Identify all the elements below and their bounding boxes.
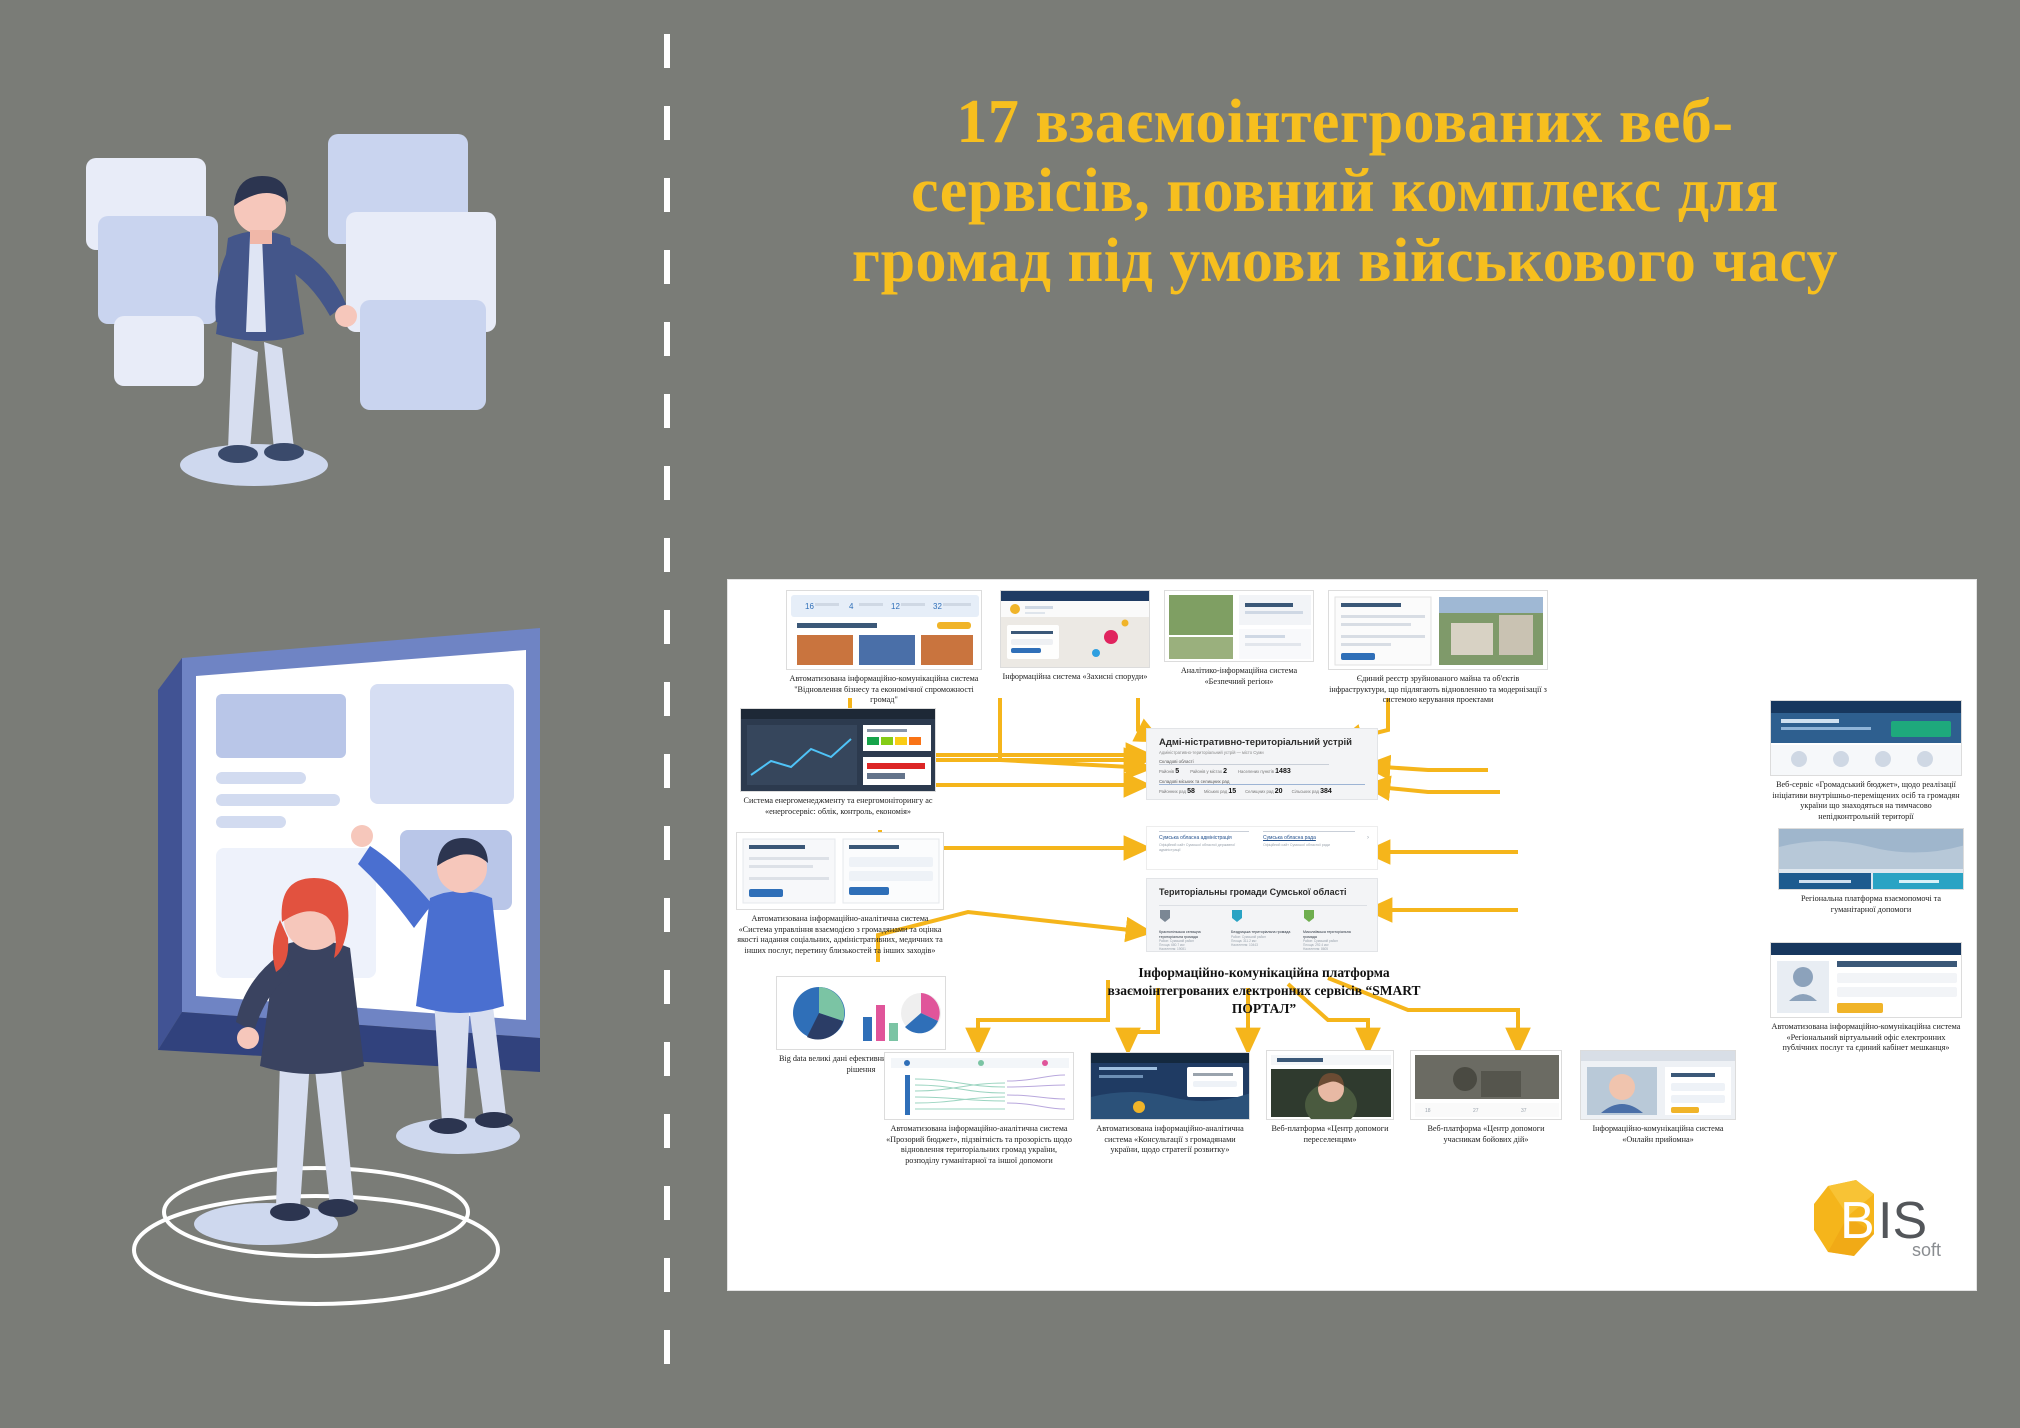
caption-citizen-interaction: Автоматизована інформаційно-аналітична с… xyxy=(736,914,944,956)
illustration-team-at-screen xyxy=(70,620,630,1320)
field-rayon-councils: Районних рад 58 xyxy=(1159,788,1195,795)
illustration-person-with-panels xyxy=(78,120,598,550)
chevron-right-icon[interactable]: › xyxy=(1367,835,1369,841)
center-hub-label: Інформаційно-комунікаційна платформа вза… xyxy=(1096,964,1432,1019)
dashed-divider xyxy=(664,34,670,1394)
svg-text:18: 18 xyxy=(1425,1108,1431,1114)
caption-transparent-budget: Автоматизована інформаційно-аналітична с… xyxy=(884,1124,1074,1166)
coat-of-arms-icon xyxy=(1231,909,1243,923)
thumbnail-public-budget xyxy=(1770,700,1962,776)
node-humanitarian-platform[interactable]: Регіональна платформа взаємопомочі та гу… xyxy=(1778,828,1964,915)
field-village-councils: Сільських рад 384 xyxy=(1292,788,1332,795)
community-card[interactable]: Краснопільська селищна територіальна гро… xyxy=(1159,909,1221,951)
communities-rule xyxy=(1159,905,1367,906)
community-card[interactable]: Миколаївська територіальна громада Район… xyxy=(1303,909,1365,951)
node-public-budget[interactable]: Веб-сервіс «Громадський бюджет», щодо ре… xyxy=(1770,700,1962,822)
caption-citizen-consultations: Автоматизована інформаційно-аналітична с… xyxy=(1090,1124,1250,1156)
thumbnail-destroyed-registry xyxy=(1328,590,1548,670)
node-veterans-help-center[interactable]: 182737 Веб-платформа «Центр допомоги уча… xyxy=(1410,1050,1562,1145)
authority-title-oda: Сумська обласна адміністрація xyxy=(1159,835,1249,841)
thumbnail-citizen-interaction xyxy=(736,832,944,910)
thumbnail-veterans-help-center: 182737 xyxy=(1410,1050,1562,1120)
node-virtual-office[interactable]: Автоматизована інформаційно-комунікаційн… xyxy=(1770,942,1962,1054)
thumbnail-citizen-consultations xyxy=(1090,1052,1250,1120)
caption-safe-region: Аналітико-інформаційна система «Безпечни… xyxy=(1164,666,1314,687)
community-card[interactable]: Бездрицька територіальна громада Район: … xyxy=(1231,909,1293,951)
node-destroyed-registry[interactable]: Єдиний реєстр зруйнованого майна та об'є… xyxy=(1328,590,1548,706)
caption-virtual-office: Автоматизована інформаційно-комунікаційн… xyxy=(1770,1022,1962,1054)
caption-public-budget: Веб-сервіс «Громадський бюджет», щодо ре… xyxy=(1770,780,1962,822)
communities-box-title: Територіальны громади Сумської області xyxy=(1159,887,1347,897)
field-city-districts: Районів у містах 2 xyxy=(1190,768,1227,775)
field-settlements: Населених пунктів 1483 xyxy=(1238,768,1291,775)
authority-title-rada: Сумська обласна рада xyxy=(1263,835,1355,841)
registry-group2-fields: Районних рад 58 Міських рад 15 Селищних … xyxy=(1159,788,1332,795)
caption-shelters: Інформаційна система «Захисні споруди» xyxy=(1000,672,1150,683)
svg-text:12: 12 xyxy=(891,602,900,611)
coat-of-arms-icon xyxy=(1159,909,1171,923)
thumbnail-transparent-budget xyxy=(884,1052,1074,1120)
authority-box[interactable]: Сумська обласна адміністрація Офіційний … xyxy=(1146,826,1378,870)
authority-rule-1 xyxy=(1159,831,1249,832)
caption-displaced-help-center: Веб-платформа «Центр допомоги переселенц… xyxy=(1266,1124,1394,1145)
diagram-board: 1641232 Автоматизована інформаційно-ко xyxy=(728,580,1976,1290)
registry-divider-1 xyxy=(1159,764,1329,765)
node-safe-region[interactable]: Аналітико-інформаційна система «Безпечни… xyxy=(1164,590,1314,687)
thumbnail-displaced-help-center xyxy=(1266,1050,1394,1120)
thumbnail-big-data xyxy=(776,976,946,1050)
field-districts: Районів 5 xyxy=(1159,768,1179,775)
logo-text-soft: soft xyxy=(1912,1240,1941,1260)
authority-item-oda[interactable]: Сумська обласна адміністрація Офіційний … xyxy=(1159,831,1249,853)
thumbnail-energy-management xyxy=(740,708,936,792)
node-citizen-consultations[interactable]: Автоматизована інформаційно-аналітична с… xyxy=(1090,1052,1250,1156)
thumbnail-shelters xyxy=(1000,590,1150,668)
thumbnail-humanitarian-platform xyxy=(1778,828,1964,890)
page-title: 17 взаємоінтегрованих веб-сервісів, повн… xyxy=(840,88,1850,296)
coat-of-arms-icon xyxy=(1303,909,1315,923)
caption-energy-management: Система енергоменеджменту та енергомоніт… xyxy=(740,796,936,817)
node-energy-management[interactable]: Система енергоменеджменту та енергомоніт… xyxy=(740,708,936,817)
node-displaced-help-center[interactable]: Веб-платформа «Центр допомоги переселенц… xyxy=(1266,1050,1394,1145)
authority-rule-2 xyxy=(1263,831,1355,832)
caption-online-reception: Інформаційно-комунікаційна система «Онла… xyxy=(1580,1124,1736,1145)
bis-soft-logo: B IS soft xyxy=(1804,1176,1954,1268)
registry-divider-2 xyxy=(1159,784,1365,785)
thumbnail-business-recovery: 1641232 xyxy=(786,590,982,670)
registry-box-subtitle: Адміністративно-територіальний устрій — … xyxy=(1159,750,1359,755)
field-city-councils: Міських рад 15 xyxy=(1204,788,1236,795)
logo-letter-b: B xyxy=(1840,1192,1875,1250)
svg-text:16: 16 xyxy=(805,602,814,611)
svg-text:32: 32 xyxy=(933,602,942,611)
svg-text:4: 4 xyxy=(849,602,854,611)
thumbnail-virtual-office xyxy=(1770,942,1962,1018)
caption-humanitarian-platform: Регіональна платформа взаємопомочі та гу… xyxy=(1778,894,1964,915)
authority-desc-oda: Офіційний сайт Сумської обласної державн… xyxy=(1159,843,1249,852)
svg-text:27: 27 xyxy=(1473,1108,1479,1114)
slide-root: 17 взаємоінтегрованих веб-сервісів, повн… xyxy=(0,0,2020,1428)
caption-destroyed-registry: Єдиний реєстр зруйнованого майна та об'є… xyxy=(1328,674,1548,706)
caption-business-recovery: Автоматизована інформаційно-комунікаційн… xyxy=(786,674,982,706)
svg-text:37: 37 xyxy=(1521,1108,1527,1114)
communities-list: Краснопільська селищна територіальна гро… xyxy=(1159,909,1365,951)
node-online-reception[interactable]: Інформаційно-комунікаційна система «Онла… xyxy=(1580,1050,1736,1145)
thumbnail-online-reception xyxy=(1580,1050,1736,1120)
node-shelters[interactable]: Інформаційна система «Захисні споруди» xyxy=(1000,590,1150,683)
authority-desc-rada: Офіційний сайт Сумської обласної ради xyxy=(1263,843,1355,848)
caption-veterans-help-center: Веб-платформа «Центр допомоги учасникам … xyxy=(1410,1124,1562,1145)
authority-item-rada[interactable]: Сумська обласна рада Офіційний сайт Сумс… xyxy=(1263,831,1355,848)
node-business-recovery[interactable]: 1641232 Автоматизована інформаційно-ко xyxy=(786,590,982,706)
thumbnail-safe-region xyxy=(1164,590,1314,662)
field-town-councils: Селищних рад 20 xyxy=(1245,788,1282,795)
node-transparent-budget[interactable]: Автоматизована інформаційно-аналітична с… xyxy=(884,1052,1074,1166)
registry-group1-fields: Районів 5 Районів у містах 2 Населених п… xyxy=(1159,768,1291,775)
node-citizen-interaction[interactable]: Автоматизована інформаційно-аналітична с… xyxy=(736,832,944,956)
registry-box-title: Адмі-ністративно-територіальний устрій xyxy=(1159,737,1352,748)
registry-box[interactable]: Адмі-ністративно-територіальний устрій А… xyxy=(1146,728,1378,800)
communities-box[interactable]: Територіальны громади Сумської області К… xyxy=(1146,878,1378,952)
